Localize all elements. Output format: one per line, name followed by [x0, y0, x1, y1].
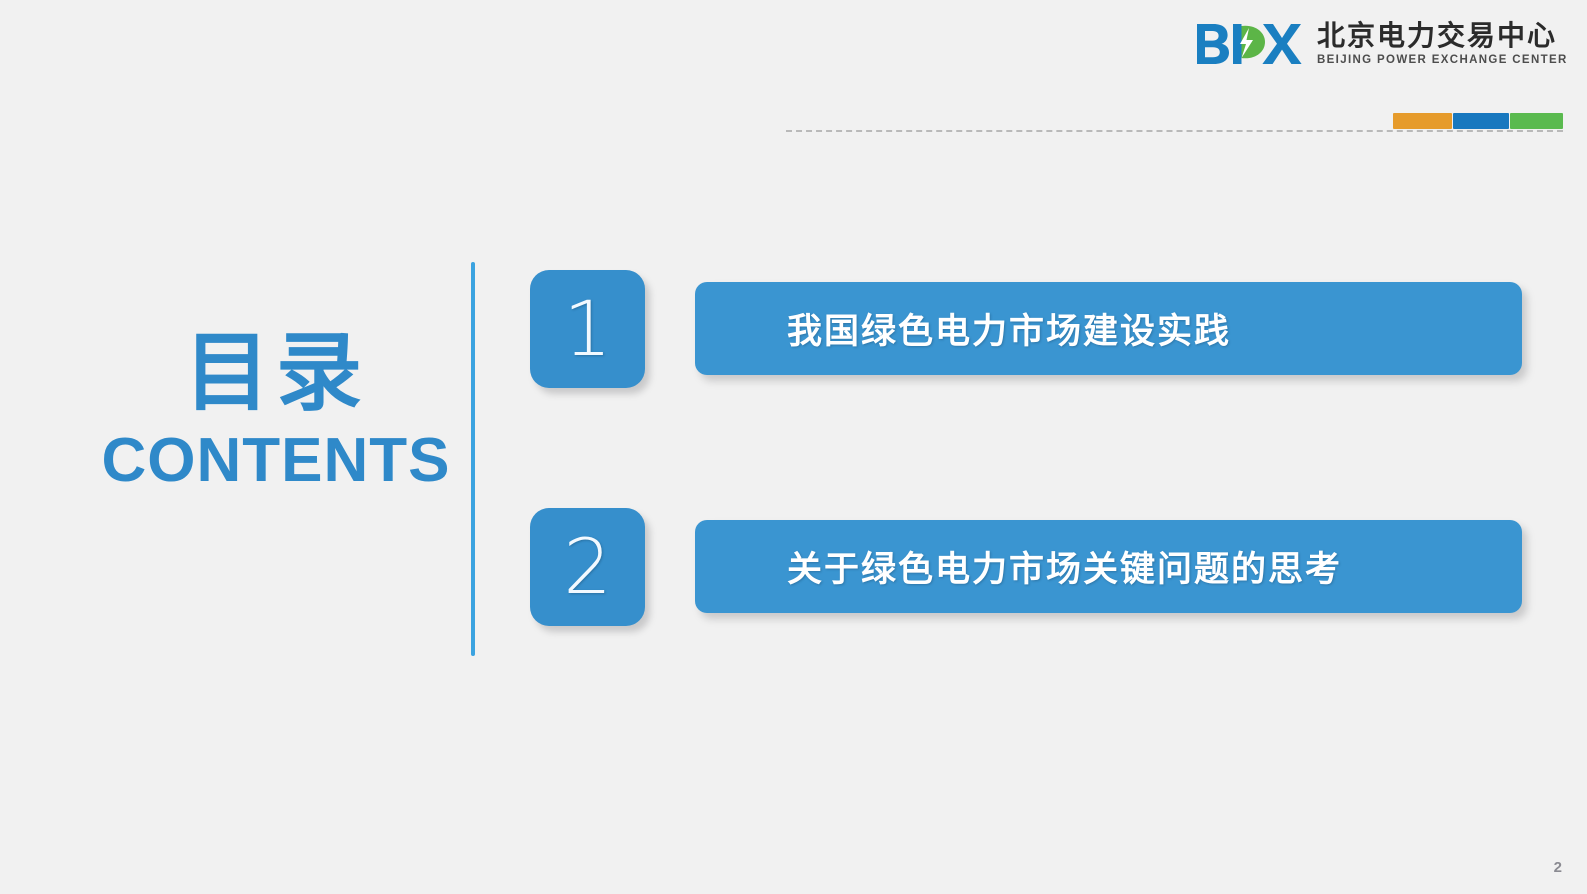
contents-heading: 目录 CONTENTS: [96, 330, 456, 492]
brand-logo: 北京电力交易中心 BEIJING POWER EXCHANGE CENTER: [1193, 18, 1568, 70]
contents-item-bar-1[interactable]: 我国绿色电力市场建设实践: [695, 282, 1522, 375]
contents-title-cn: 目录: [96, 330, 456, 416]
contents-item-label-1: 我国绿色电力市场建设实践: [787, 303, 1231, 354]
brand-name-cn: 北京电力交易中心: [1317, 22, 1568, 50]
accent-chip-orange: [1393, 113, 1452, 129]
contents-number-badge-1[interactable]: 1: [530, 270, 645, 388]
accent-chip-blue: [1453, 113, 1509, 129]
brand-name-en: BEIJING POWER EXCHANGE CENTER: [1317, 55, 1568, 67]
accent-chip-green: [1510, 113, 1563, 129]
contents-number-badge-2[interactable]: 2: [530, 508, 645, 626]
contents-number-1: 1: [563, 291, 611, 367]
bpx-logo-icon: [1193, 18, 1305, 70]
header-dashed-rule: [786, 130, 1563, 132]
slide-canvas: 北京电力交易中心 BEIJING POWER EXCHANGE CENTER 目…: [0, 0, 1587, 894]
contents-number-2: 2: [563, 529, 611, 605]
contents-title-en: CONTENTS: [96, 430, 456, 492]
contents-item-label-2: 关于绿色电力市场关键问题的思考: [787, 541, 1342, 592]
brand-text: 北京电力交易中心 BEIJING POWER EXCHANGE CENTER: [1317, 22, 1568, 67]
page-number: 2: [1554, 859, 1562, 876]
vertical-divider: [471, 262, 475, 656]
contents-item-bar-2[interactable]: 关于绿色电力市场关键问题的思考: [695, 520, 1522, 613]
